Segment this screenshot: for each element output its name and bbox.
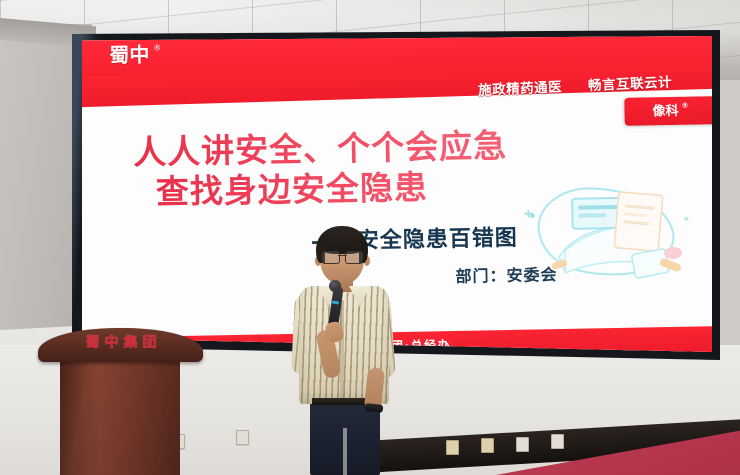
wall-outlet	[236, 430, 249, 445]
registered-mark-icon: ®	[153, 43, 161, 52]
glasses-icon	[322, 251, 363, 262]
podium-body-shadow	[60, 358, 100, 475]
slide-headline: 人人讲安全、个个会应急 查找身边安全隐患	[133, 124, 614, 213]
wall-outlet	[446, 440, 459, 455]
podium-char-2: 中	[105, 336, 119, 350]
podium-char-1: 蜀	[86, 336, 100, 350]
slogan-left: 施政精药通医	[478, 75, 563, 99]
presenter	[286, 222, 402, 475]
wall-outlet	[516, 437, 529, 452]
department-label: 部门：安委会	[455, 261, 557, 287]
podium-char-3: 集	[124, 336, 138, 350]
company-logo-text: 蜀中	[109, 45, 149, 66]
presenter-shirt-placket	[340, 300, 344, 404]
podium: 蜀 中 集 团	[38, 322, 203, 475]
brand-tab: 像科 ®	[624, 96, 712, 126]
podium-char-4: 团	[143, 336, 157, 350]
wall-outlet	[551, 434, 564, 449]
presenter-leg-gap	[343, 428, 347, 475]
glasses-lens-right	[345, 251, 363, 264]
presentation-scene: 蜀中 ® 施政精药通医 畅言互联云计 像科 ®	[0, 0, 740, 475]
company-logo: 蜀中 ®	[109, 44, 170, 65]
glasses-lens-left	[322, 251, 340, 264]
podium-nameplate: 蜀 中 集 团	[62, 328, 180, 358]
slogan-right: 畅言互联云计	[588, 71, 673, 95]
brand-tab-text: 像科	[652, 104, 678, 117]
wall-outlet	[481, 438, 494, 453]
brand-tab-registered-icon: ®	[681, 102, 688, 109]
headline-line-2: 查找身边安全隐患	[156, 164, 615, 213]
